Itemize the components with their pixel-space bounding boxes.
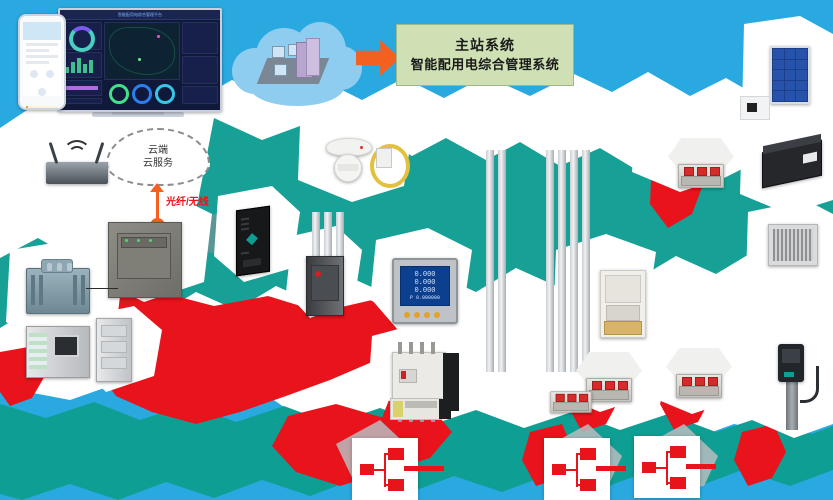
sensor-label-strip bbox=[338, 164, 358, 171]
blue-gauge-icon bbox=[132, 84, 152, 104]
dashboard-kpi-panel-2 bbox=[182, 56, 218, 84]
meter-reading-2: 0.000 bbox=[414, 280, 435, 287]
energy-meter-terminal bbox=[604, 321, 642, 335]
topology-node-root bbox=[642, 462, 656, 473]
meter-button-4 bbox=[434, 312, 440, 318]
dashboard-donut-panel bbox=[62, 22, 102, 50]
title-line-1: 主站系统 bbox=[455, 35, 515, 55]
busbar-1 bbox=[486, 150, 494, 372]
uplink-arrow-head bbox=[150, 183, 164, 192]
smoke-detector-led bbox=[360, 146, 363, 149]
miniature-breaker-3[interactable] bbox=[676, 374, 722, 398]
ev-charger-brand-icon bbox=[784, 372, 794, 377]
phone-app-header bbox=[23, 22, 61, 40]
busbar-6 bbox=[582, 150, 590, 372]
acb-front-panel bbox=[311, 265, 339, 301]
distribution-transformer[interactable] bbox=[26, 268, 90, 314]
monitor-dashboard[interactable]: 智能配用电综合管理平台 bbox=[58, 8, 222, 112]
title-line-2: 智能配用电综合管理系统 bbox=[411, 56, 560, 75]
energy-meter[interactable] bbox=[600, 270, 646, 338]
power-meter[interactable]: 0.000 0.000 0.000 P 0.000000 bbox=[392, 258, 458, 324]
busbar-5 bbox=[570, 150, 578, 372]
dashboard-kpi-panel-3 bbox=[182, 86, 218, 104]
air-circuit-breaker[interactable] bbox=[306, 256, 344, 316]
dashboard-title: 智能配用电综合管理平台 bbox=[118, 12, 162, 18]
miniature-breaker-4[interactable] bbox=[550, 391, 591, 413]
topology-node-root bbox=[360, 464, 374, 475]
phone-icon-1 bbox=[30, 70, 38, 78]
meter-button-3 bbox=[424, 312, 430, 318]
dashboard-gauges bbox=[104, 82, 180, 104]
acb-trip-button[interactable] bbox=[315, 271, 321, 277]
topology-card-1[interactable] bbox=[352, 438, 418, 500]
temperature-sensor[interactable] bbox=[334, 154, 362, 182]
phone-icon-3 bbox=[38, 88, 46, 96]
map-network-icon bbox=[109, 27, 175, 75]
meter-reading-3: 0.000 bbox=[414, 288, 435, 295]
title-card: 主站系统 智能配用电综合管理系统 bbox=[396, 24, 574, 86]
uplink-label: 光纤/无线 bbox=[166, 193, 209, 208]
battery-label bbox=[803, 152, 817, 164]
busbar-2 bbox=[498, 150, 506, 372]
meter-button-1 bbox=[404, 312, 410, 318]
topology-node-b bbox=[670, 477, 686, 489]
dashboard-table-panel bbox=[62, 98, 102, 104]
cloud-dashed: 云端 云服务 bbox=[106, 128, 210, 186]
ct-sensor-body bbox=[376, 148, 392, 168]
edge-gateway[interactable] bbox=[236, 206, 270, 277]
terminal-block bbox=[390, 398, 442, 420]
topology-node-a bbox=[670, 446, 686, 458]
energy-meter-faceplate bbox=[605, 275, 641, 303]
gateway-brand-icon bbox=[246, 232, 258, 246]
phone-alarm-banner bbox=[26, 106, 58, 110]
power-meter-lcd: 0.000 0.000 0.000 P 0.000000 bbox=[400, 266, 450, 306]
topology-card-3[interactable] bbox=[634, 436, 700, 498]
solar-inverter[interactable] bbox=[740, 96, 770, 120]
cloud-label-2: 云服务 bbox=[143, 157, 173, 171]
wifi-signal-outer-icon bbox=[63, 140, 91, 166]
ev-charger-cable bbox=[800, 366, 819, 403]
phone-screen bbox=[23, 22, 61, 96]
cloud-servers bbox=[228, 18, 364, 110]
server-pc-3 bbox=[274, 64, 287, 76]
topology-card-2[interactable] bbox=[544, 438, 610, 500]
mccb-toggle[interactable] bbox=[401, 371, 406, 379]
topology-node-a bbox=[388, 448, 404, 460]
green-gauge-icon bbox=[109, 84, 129, 104]
switchgear-panel[interactable] bbox=[96, 318, 132, 382]
cabinet-breaker-row bbox=[121, 237, 167, 248]
dashboard-header: 智能配用电综合管理平台 bbox=[60, 10, 220, 20]
transformer-connector-line bbox=[86, 288, 118, 289]
server-tower-2 bbox=[306, 38, 320, 76]
meter-reading-1: 0.000 bbox=[414, 272, 435, 279]
topology-node-root bbox=[552, 464, 566, 475]
control-cabinet-terminals bbox=[29, 333, 47, 369]
cloud-label-1: 云端 bbox=[148, 144, 168, 158]
cyan-gauge-icon bbox=[155, 84, 175, 104]
dashboard-kpi-panel-1 bbox=[182, 22, 218, 54]
meter-button-2 bbox=[414, 312, 420, 318]
dashboard-bar-panel bbox=[62, 52, 102, 78]
topology-node-b bbox=[388, 479, 404, 491]
wireless-router[interactable] bbox=[46, 162, 108, 184]
solar-panel[interactable] bbox=[770, 46, 810, 104]
busbar-3 bbox=[546, 150, 554, 372]
topology-node-a bbox=[580, 448, 596, 460]
energy-meter-display bbox=[606, 305, 640, 321]
miniature-breaker-1[interactable] bbox=[678, 164, 724, 188]
control-cabinet-hmi[interactable] bbox=[53, 335, 79, 357]
air-conditioner-unit[interactable] bbox=[768, 224, 818, 266]
ev-charger-post bbox=[786, 376, 798, 430]
dashboard-progress-panel bbox=[62, 80, 102, 96]
diagram-canvas: 智能配用电综合管理平台 bbox=[0, 0, 833, 500]
ev-charger-screen bbox=[782, 349, 800, 363]
meter-reading-4: P 0.000000 bbox=[410, 296, 440, 301]
ac-grill bbox=[773, 229, 813, 261]
control-cabinet[interactable] bbox=[26, 326, 90, 378]
miniature-breaker-2[interactable] bbox=[586, 378, 632, 402]
power-meter-buttons[interactable] bbox=[404, 312, 440, 318]
busbar-4 bbox=[558, 150, 566, 372]
dashboard-map-panel[interactable] bbox=[104, 22, 180, 80]
donut-chart-icon bbox=[69, 26, 95, 52]
phone-app[interactable] bbox=[18, 14, 66, 110]
bar-chart-icon bbox=[63, 53, 101, 75]
gateway-ethernet-port bbox=[243, 258, 261, 268]
topology-node-b bbox=[580, 479, 596, 491]
gateway-cabinet[interactable] bbox=[108, 222, 182, 298]
server-pc-1 bbox=[272, 46, 285, 58]
phone-icon-2 bbox=[46, 70, 54, 78]
